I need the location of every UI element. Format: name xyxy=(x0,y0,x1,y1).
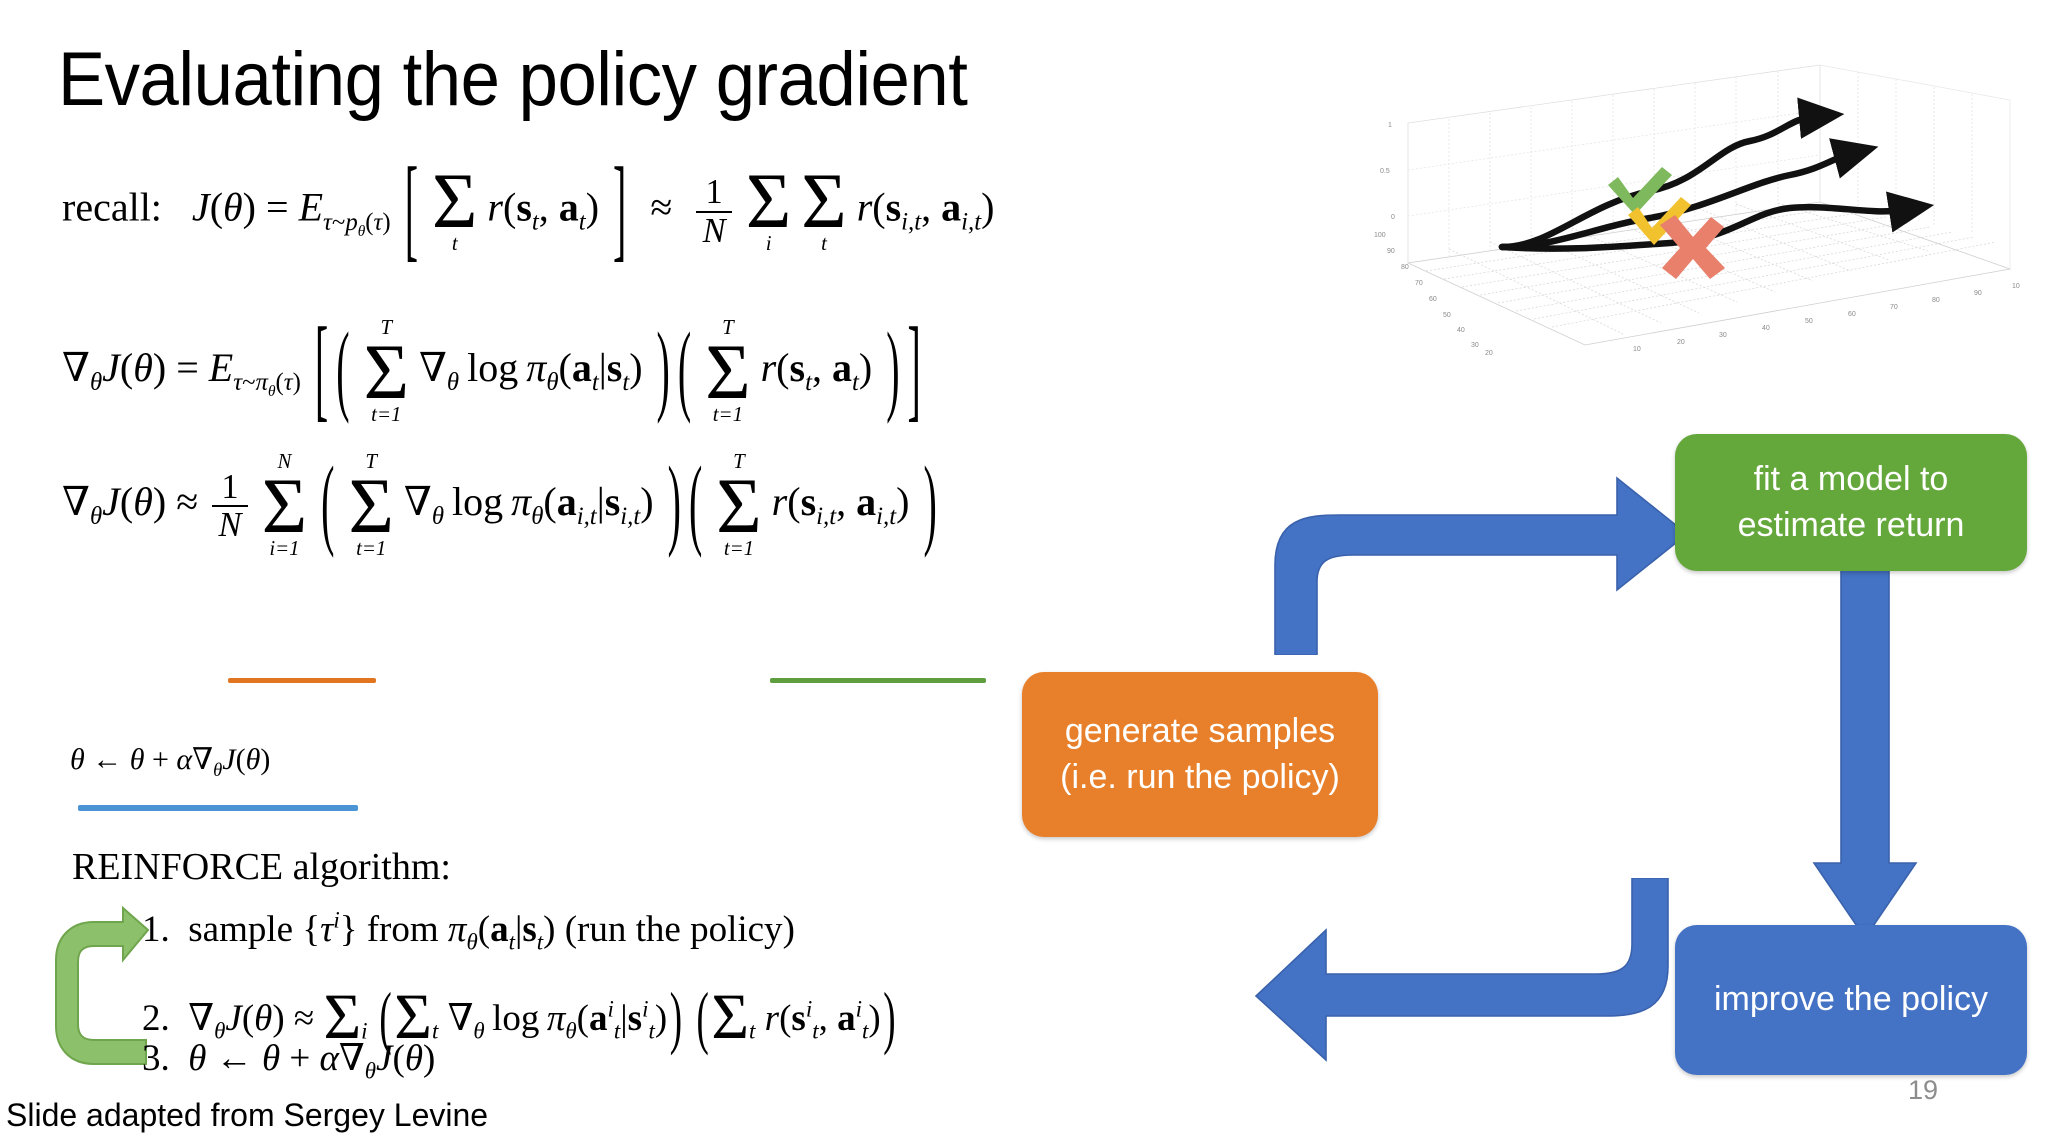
generate-samples-line-1: generate samples xyxy=(1060,709,1340,755)
algo-step-1: 1. sample {τi} from πθ(at|st) (run the p… xyxy=(142,908,795,951)
slide-caption: Slide adapted from Sergey Levine xyxy=(6,1097,488,1134)
svg-text:80: 80 xyxy=(1932,297,1940,304)
trajectory-plot-3d: 1 0.5 0 10090 8070 6050 4030 20 1020 304… xyxy=(1350,55,2040,355)
underline-green xyxy=(770,678,986,683)
svg-text:50: 50 xyxy=(1805,318,1813,325)
svg-text:70: 70 xyxy=(1415,280,1423,287)
red-cross-icon xyxy=(1660,215,1725,279)
svg-text:80: 80 xyxy=(1401,264,1409,271)
svg-text:20: 20 xyxy=(1485,350,1493,355)
arrow-fit-to-improve-policy xyxy=(1810,563,1920,943)
underline-orange xyxy=(228,678,376,683)
equation-gradient-approx: ∇θJ(θ) ≈ 1N NΣi=1 ( TΣt=1 ∇θ log πθ(ai,t… xyxy=(62,452,941,560)
arrow-samples-to-fit-model xyxy=(1245,470,1695,655)
equation-theta-update: θ ← θ + α∇θJ(θ) xyxy=(70,742,270,777)
svg-text:60: 60 xyxy=(1848,311,1856,318)
svg-text:60: 60 xyxy=(1429,296,1437,303)
slide-canvas: Evaluating the policy gradient recall: J… xyxy=(0,0,2048,1147)
reinforce-heading: REINFORCE algorithm: xyxy=(72,845,451,889)
slide-number: 19 xyxy=(1908,1075,1938,1106)
svg-text:1: 1 xyxy=(1388,122,1392,129)
equation-gradient-exact: ∇θJ(θ) = Eτ~πθ(τ) [( TΣt=1 ∇θ log πθ(at|… xyxy=(62,318,925,426)
svg-text:70: 70 xyxy=(1890,304,1898,311)
cycle-box-improve-policy[interactable]: improve the policy xyxy=(1675,925,2027,1075)
fit-model-line-2: estimate return xyxy=(1738,503,1965,549)
svg-text:0.5: 0.5 xyxy=(1380,168,1390,175)
svg-text:40: 40 xyxy=(1457,327,1465,334)
svg-text:50: 50 xyxy=(1443,312,1451,319)
improve-policy-line-1: improve the policy xyxy=(1714,977,1988,1023)
cycle-box-generate-samples[interactable]: generate samples (i.e. run the policy) xyxy=(1022,672,1378,837)
svg-text:20: 20 xyxy=(1677,339,1685,346)
fit-model-line-1: fit a model to xyxy=(1738,457,1965,503)
svg-text:10: 10 xyxy=(2012,283,2020,290)
page-title: Evaluating the policy gradient xyxy=(58,38,967,122)
svg-text:10: 10 xyxy=(1633,346,1641,353)
underline-blue xyxy=(78,805,358,811)
arrow-improve-to-generate-samples xyxy=(1228,878,1698,1068)
svg-text:90: 90 xyxy=(1387,248,1395,255)
svg-text:30: 30 xyxy=(1719,332,1727,339)
cycle-box-fit-model[interactable]: fit a model to estimate return xyxy=(1675,434,2027,571)
svg-text:100: 100 xyxy=(1374,232,1386,239)
svg-text:40: 40 xyxy=(1762,325,1770,332)
svg-text:30: 30 xyxy=(1471,342,1479,349)
svg-text:90: 90 xyxy=(1974,290,1982,297)
svg-text:0: 0 xyxy=(1391,214,1395,221)
algo-step-3: 3. θ ← θ + α∇θJ(θ) xyxy=(142,1036,435,1080)
generate-samples-line-2: (i.e. run the policy) xyxy=(1060,755,1340,801)
equation-recall: recall: J(θ) = Eτ~pθ(τ) [ Σt r(st, at) ]… xyxy=(62,168,994,255)
